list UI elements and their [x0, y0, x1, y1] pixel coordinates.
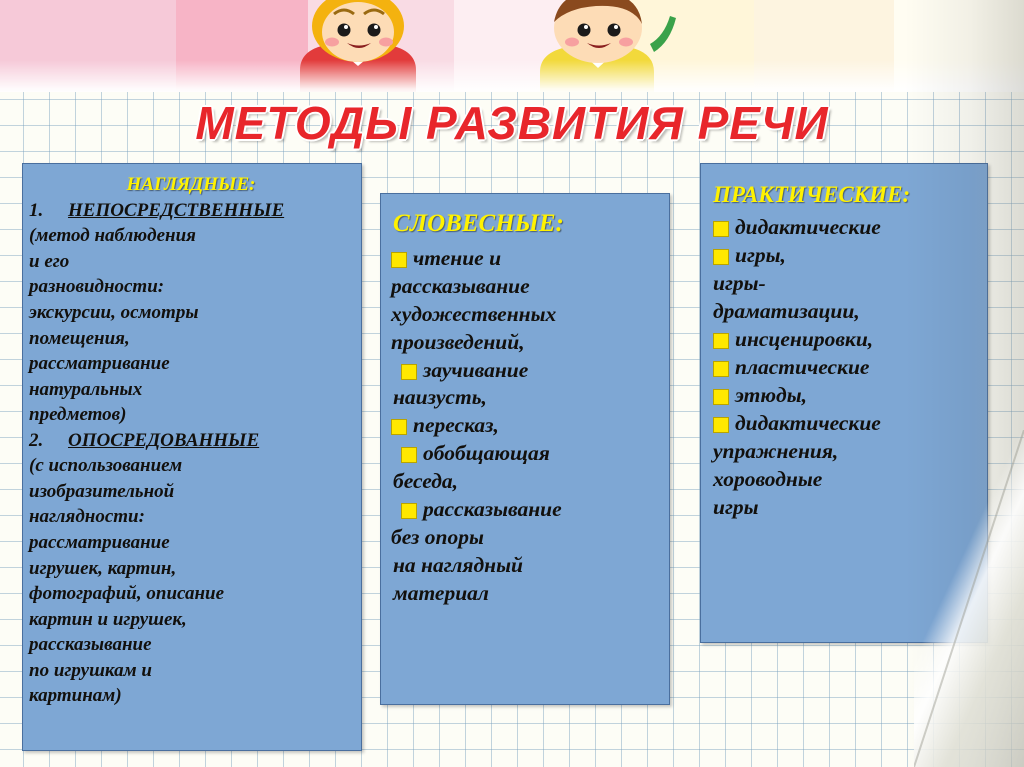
visual-item-1-title: НЕПОСРЕДСТВЕННЫЕ [68, 200, 284, 221]
list-item: дидактические [713, 214, 977, 242]
visual-item-1-number: 1. [29, 200, 43, 221]
list-item-continuation: художественных [391, 301, 661, 329]
visual-item-2-line: по игрушкам и [29, 658, 353, 684]
visual-item-1-line: и его [29, 249, 353, 275]
square-bullet-icon [713, 333, 729, 349]
panel-practical-methods: ПРАКТИЧЕСКИЕ: дидактические игры, игры- … [700, 163, 988, 643]
panel-verbal-methods: СЛОВЕСНЫЕ: чтение и рассказывание художе… [380, 193, 670, 705]
page-title: МЕТОДЫ РАЗВИТИЯ РЕЧИ [0, 96, 1024, 150]
visual-item-2-line: рассказывание [29, 632, 353, 658]
list-item: обобщающая [391, 440, 661, 468]
visual-item-2-title: ОПОСРЕДОВАННЫЕ [68, 430, 259, 451]
list-item-continuation: рассказывание [391, 273, 661, 301]
visual-item-1-line: натуральных [29, 377, 353, 403]
list-item-continuation: игры [713, 494, 977, 522]
visual-item-2-number: 2. [29, 430, 43, 451]
visual-item-2-line: игрушек, картин, [29, 556, 353, 582]
list-item-continuation: драматизации, [713, 298, 977, 326]
panel-verbal-heading: СЛОВЕСНЫЕ: [393, 210, 661, 239]
list-item-continuation: хороводные [713, 466, 977, 494]
list-item-text: пересказ, [413, 412, 661, 440]
square-bullet-icon [713, 389, 729, 405]
list-item-text: игры, [735, 242, 977, 270]
list-item: дидактические [713, 410, 977, 438]
square-bullet-icon [713, 221, 729, 237]
list-item-text: рассказывание [423, 496, 661, 524]
list-item-continuation: упражнения, [713, 438, 977, 466]
list-item-continuation: материал [391, 580, 661, 608]
visual-item-1-line: разновидности: [29, 274, 353, 300]
list-item: заучивание [391, 357, 661, 385]
list-item-text: этюды, [735, 382, 977, 410]
list-item-continuation: произведений, [391, 329, 661, 357]
list-item-continuation: наизусть, [391, 384, 661, 412]
list-item-continuation: беседа, [391, 468, 661, 496]
square-bullet-icon [401, 364, 417, 380]
square-bullet-icon [401, 447, 417, 463]
square-bullet-icon [713, 417, 729, 433]
visual-item-2-line: наглядности: [29, 504, 353, 530]
panel-visual-body: 1. НЕПОСРЕДСТВЕННЫЕ (метод наблюдения и … [29, 198, 353, 709]
visual-item-2-line: (с использованием [29, 453, 353, 479]
list-item-text: инсценировки, [735, 326, 977, 354]
visual-item-2-line: картин и игрушек, [29, 607, 353, 633]
visual-item-1-line: предметов) [29, 402, 353, 428]
square-bullet-icon [713, 361, 729, 377]
square-bullet-icon [401, 503, 417, 519]
visual-item-1-line: рассматривание [29, 351, 353, 377]
visual-item-2-line: картинам) [29, 683, 353, 709]
visual-item-1-line: экскурсии, осмотры [29, 300, 353, 326]
list-item-continuation: игры- [713, 270, 977, 298]
list-item-text: дидактические [735, 410, 977, 438]
visual-item-1-title-line: 1. НЕПОСРЕДСТВЕННЫЕ [29, 198, 353, 224]
visual-item-1-line: (метод наблюдения [29, 223, 353, 249]
list-item-text: обобщающая [423, 440, 661, 468]
list-item-text: чтение и [413, 245, 661, 273]
list-item: пересказ, [391, 412, 661, 440]
panel-visual-methods: НАГЛЯДНЫЕ: 1. НЕПОСРЕДСТВЕННЫЕ (метод на… [22, 163, 362, 751]
square-bullet-icon [391, 419, 407, 435]
visual-item-2-line: фотографий, описание [29, 581, 353, 607]
visual-item-2-line: изобразительной [29, 479, 353, 505]
list-item: этюды, [713, 382, 977, 410]
list-item-text: дидактические [735, 214, 977, 242]
square-bullet-icon [391, 252, 407, 268]
visual-item-2-line: рассматривание [29, 530, 353, 556]
panel-practical-heading: ПРАКТИЧЕСКИЕ: [713, 182, 977, 208]
slide-background: МЕТОДЫ РАЗВИТИЯ РЕЧИ НАГЛЯДНЫЕ: 1. НЕПОС… [0, 0, 1024, 767]
list-item: инсценировки, [713, 326, 977, 354]
banner-fade [0, 60, 1024, 92]
visual-item-2-title-line: 2. ОПОСРЕДОВАННЫЕ [29, 428, 353, 454]
list-item-continuation: без опоры [391, 524, 661, 552]
visual-item-1-line: помещения, [29, 326, 353, 352]
list-item: пластические [713, 354, 977, 382]
decorative-banner [0, 0, 1024, 92]
list-item-continuation: на наглядный [391, 552, 661, 580]
list-item: рассказывание [391, 496, 661, 524]
list-item: чтение и [391, 245, 661, 273]
square-bullet-icon [713, 249, 729, 265]
list-item-text: заучивание [423, 357, 661, 385]
list-item-text: пластические [735, 354, 977, 382]
panel-visual-heading: НАГЛЯДНЫЕ: [29, 174, 353, 196]
list-item: игры, [713, 242, 977, 270]
